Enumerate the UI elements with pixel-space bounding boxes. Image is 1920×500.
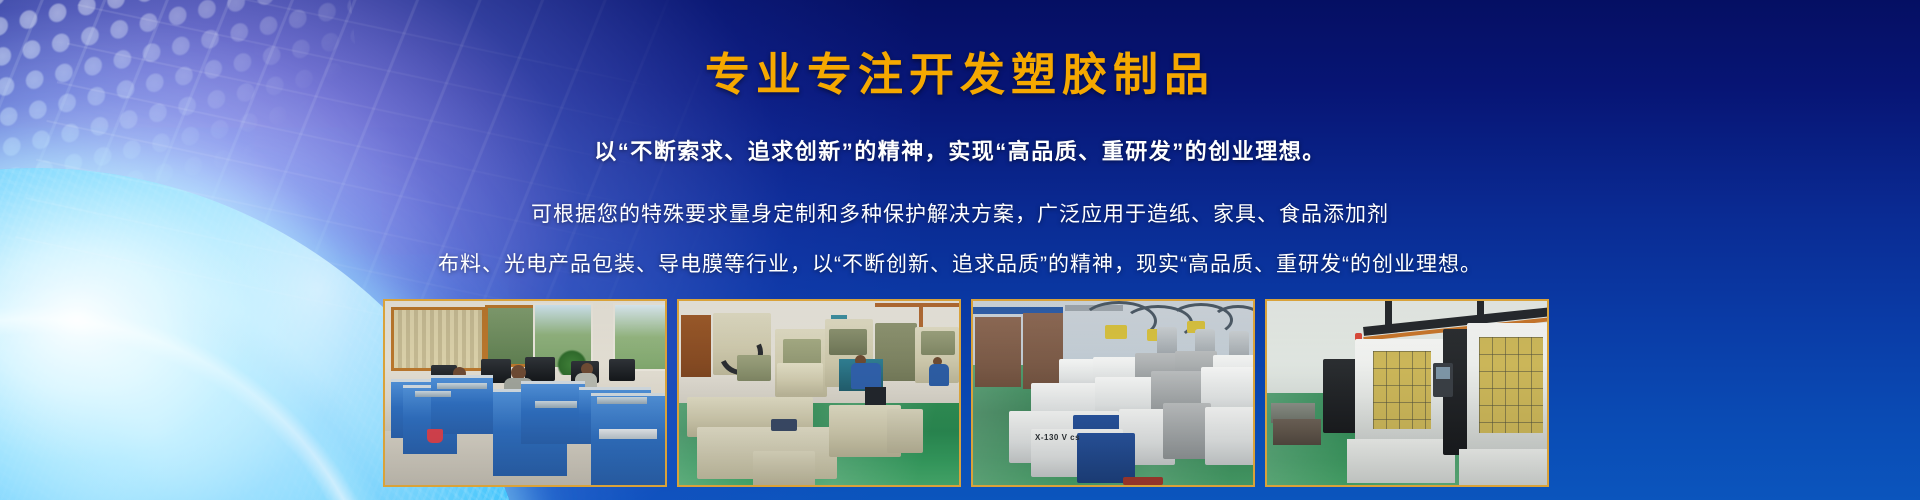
photo-cnc-machining-centres[interactable]: [1265, 299, 1549, 487]
photo-edm-machine-shop[interactable]: [677, 299, 961, 487]
banner-body-line-1: 可根据您的特殊要求量身定制和多种保护解决方案，广泛应用于造纸、家具、食品添加剂: [0, 198, 1920, 228]
factory-photo-strip: X-130 V cs: [383, 299, 1549, 487]
banner-headline: 专业专注开发塑胶制品: [0, 38, 1920, 103]
photo-office-workstations[interactable]: [383, 299, 667, 487]
banner-subheadline: 以“不断索求、追求创新”的精神，实现“高品质、重研发”的创业理想。: [0, 134, 1920, 166]
banner-body-line-2: 布料、光电产品包装、导电膜等行业，以“不断创新、追求品质”的精神，现实“高品质、…: [0, 248, 1920, 278]
promo-banner: 专业专注开发塑胶制品 以“不断索求、追求创新”的精神，实现“高品质、重研发”的创…: [0, 0, 1920, 500]
photo-injection-moulding-line[interactable]: X-130 V cs: [971, 299, 1255, 487]
